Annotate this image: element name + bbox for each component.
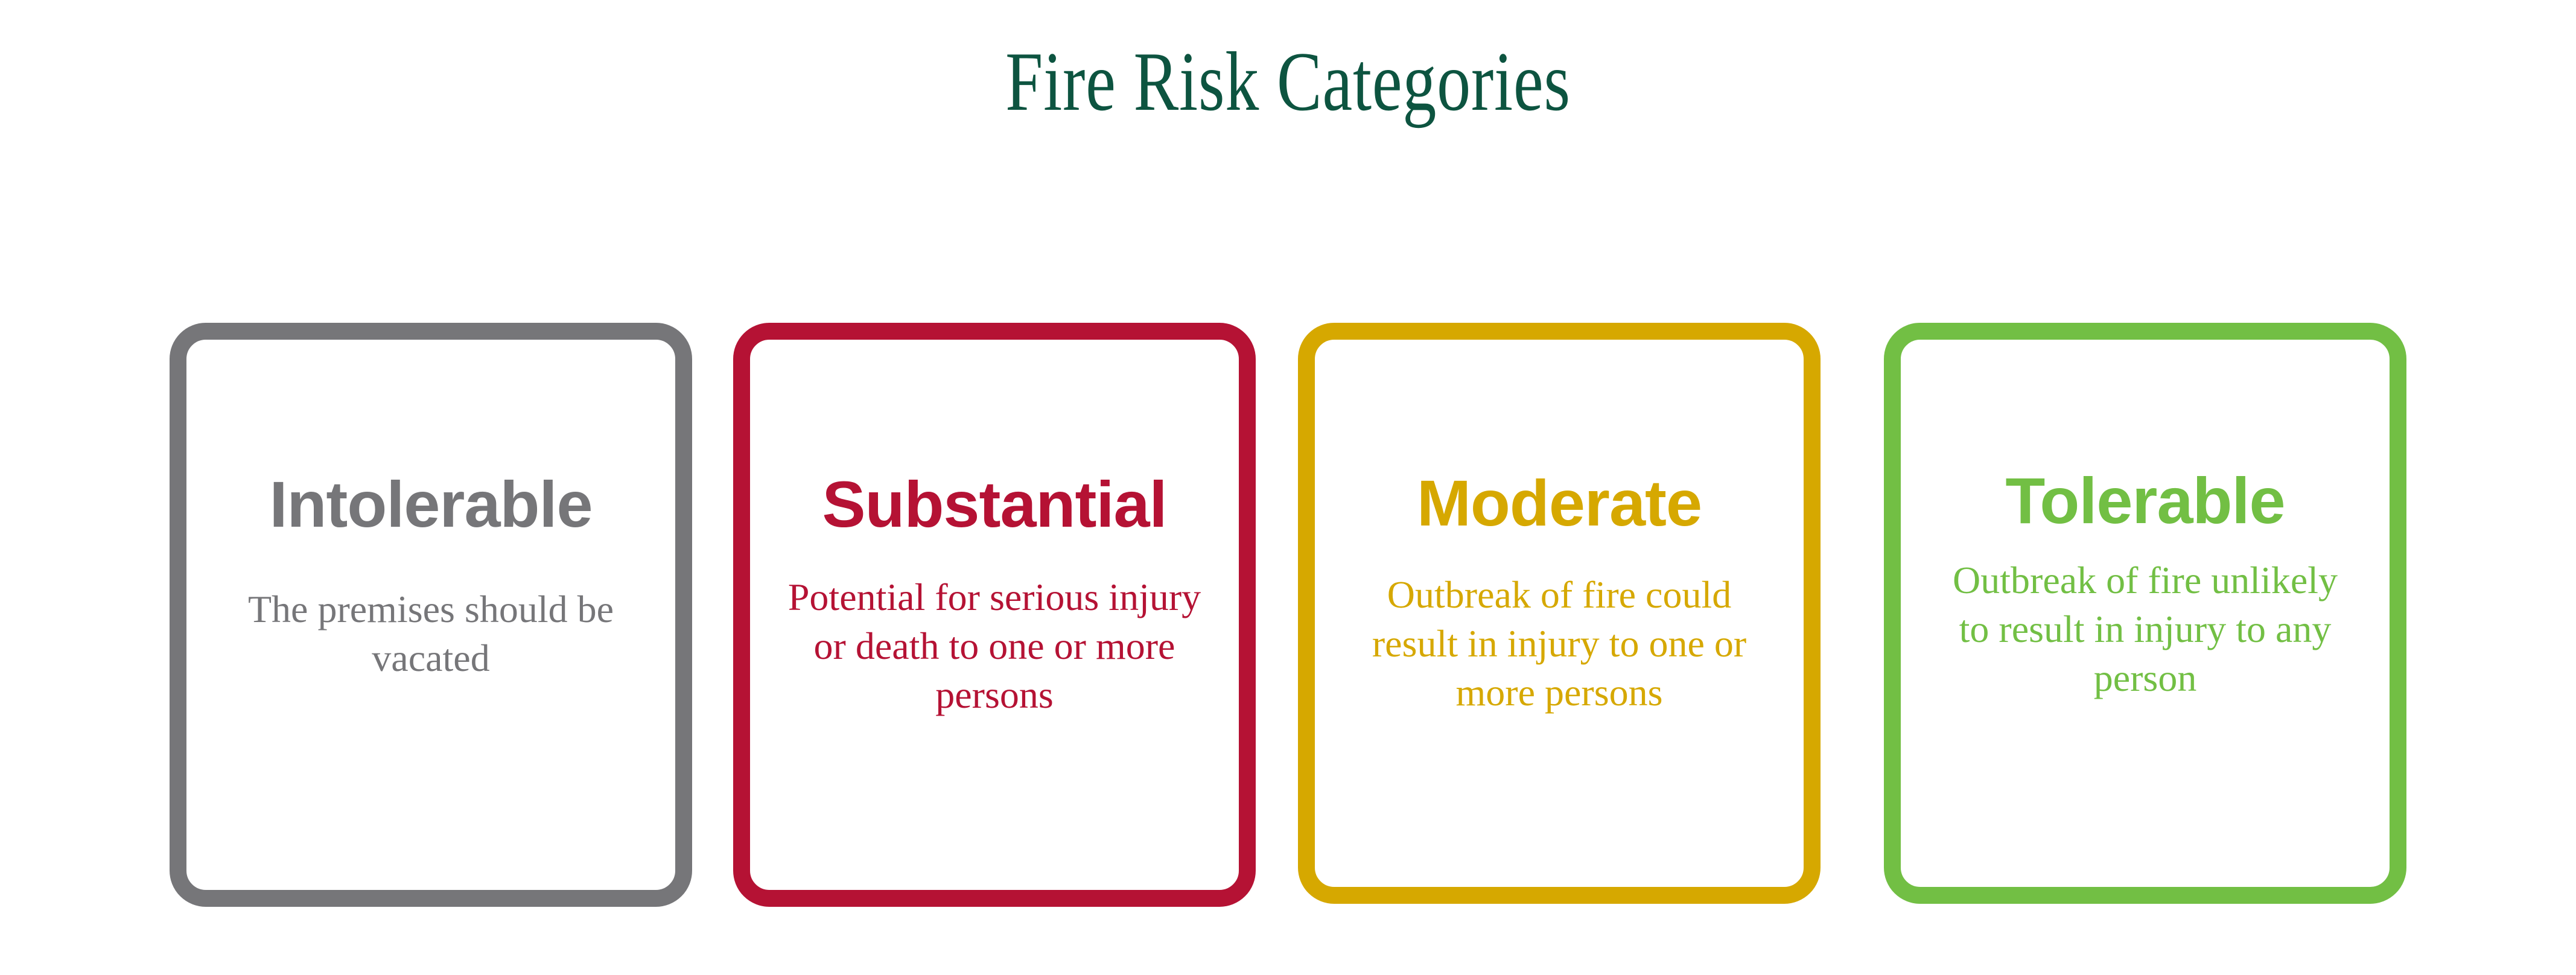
risk-category-row: Intolerable The premises should be vacat…	[170, 323, 2406, 911]
page-title: Fire Risk Categories	[258, 40, 2318, 124]
risk-card-description: Potential for serious injury or death to…	[786, 573, 1203, 719]
risk-card-heading: Moderate	[1417, 469, 1702, 537]
risk-card-moderate[interactable]: Moderate Outbreak of fire could result i…	[1298, 323, 1821, 904]
risk-card-description: The premises should be vacated	[220, 585, 642, 682]
risk-card-heading: Intolerable	[269, 470, 592, 538]
risk-card-substantial[interactable]: Substantial Potential for serious injury…	[733, 323, 1256, 907]
risk-card-description: Outbreak of fire could result in injury …	[1342, 571, 1776, 717]
risk-card-heading: Substantial	[822, 470, 1166, 538]
risk-card-tolerable[interactable]: Tolerable Outbreak of fire unlikely to r…	[1884, 323, 2406, 904]
risk-card-intolerable[interactable]: Intolerable The premises should be vacat…	[170, 323, 692, 907]
risk-card-description: Outbreak of fire unlikely to result in i…	[1946, 556, 2344, 702]
risk-card-heading: Tolerable	[2005, 466, 2285, 535]
slide-canvas: Fire Risk Categories Intolerable The pre…	[0, 0, 2576, 975]
